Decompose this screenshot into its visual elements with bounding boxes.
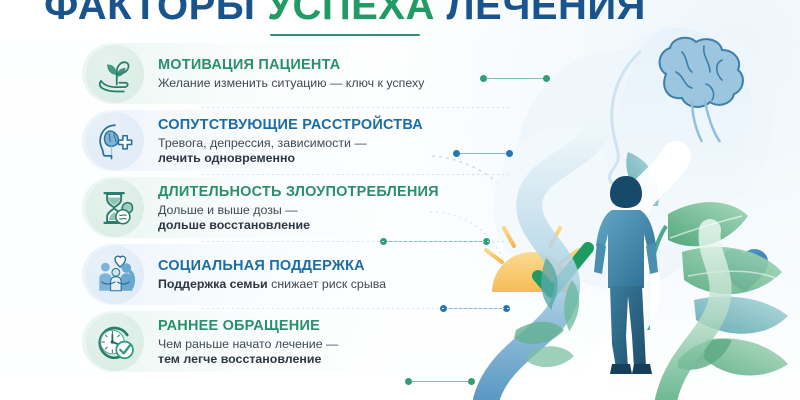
factor-description: Тревога, депрессия, зависимости — <box>158 136 423 151</box>
factor-row-motivation[interactable]: МОТИВАЦИЯ ПАЦИЕНТА Желание изменить ситу… <box>82 40 502 107</box>
factor-text: РАННЕЕ ОБРАЩЕНИЕ Чем раньше начато лечен… <box>158 317 338 367</box>
infographic-root: ФАКТОРЫ УСПЕХА ЛЕЧЕНИЯ <box>0 0 800 400</box>
factor-description: Чем раньше начато лечение — <box>158 337 338 352</box>
factor-heading: СОПУТСТВУЮЩИЕ РАССТРОЙСТВА <box>158 117 423 134</box>
connector-bar <box>412 381 468 383</box>
title-part-2: УСПЕХА <box>267 0 435 28</box>
factor-heading: ДЛИТЕЛЬНОСТЬ ЗЛОУПОТРЕБЛЕНИЯ <box>158 184 439 201</box>
factor-heading: МОТИВАЦИЯ ПАЦИЕНТА <box>158 57 424 74</box>
family-heart-icon <box>86 246 144 304</box>
connector-dot-end <box>468 378 475 385</box>
factor-row-early-treatment[interactable]: РАННЕЕ ОБРАЩЕНИЕ Чем раньше начато лечен… <box>82 308 502 375</box>
person-head <box>610 176 642 208</box>
factor-description-line2: лечить одновременно <box>158 151 423 166</box>
factor-description: Поддержка семьи снижает риск срыва <box>158 277 386 292</box>
desc-plain: Тревога, депрессия, зависимости — <box>158 136 367 150</box>
factor-description-line2: тем легче восстановление <box>158 352 338 367</box>
head-brain-plus-icon <box>86 112 144 170</box>
person-shoe-left <box>610 364 632 374</box>
clock-check-icon <box>86 313 144 371</box>
hand-plant-heart-icon <box>86 45 144 103</box>
factor-text: МОТИВАЦИЯ ПАЦИЕНТА Желание изменить ситу… <box>158 56 424 91</box>
desc-plain: Желание изменить ситуацию — ключ к успех… <box>158 76 424 90</box>
desc-bold: лечить одновременно <box>158 151 295 165</box>
hourglass-pill-icon <box>86 179 144 237</box>
factor-row-social-support[interactable]: СОЦИАЛЬНАЯ ПОДДЕРЖКА Поддержка семьи сни… <box>82 241 502 308</box>
desc-plain: снижает риск срыва <box>268 277 386 291</box>
factor-text: ДЛИТЕЛЬНОСТЬ ЗЛОУПОТРЕБЛЕНИЯ Дольше и вы… <box>158 183 439 233</box>
title-text: ФАКТОРЫ УСПЕХА ЛЕЧЕНИЯ <box>0 0 690 28</box>
connector-dot-end <box>543 75 550 82</box>
desc-plain: Дольше и выше дозы — <box>158 203 298 217</box>
factor-text: СОЦИАЛЬНАЯ ПОДДЕРЖКА Поддержка семьи сни… <box>158 257 386 292</box>
factor-description: Дольше и выше дозы — <box>158 203 439 218</box>
title-underline <box>270 34 420 36</box>
factor-heading: СОЦИАЛЬНАЯ ПОДДЕРЖКА <box>158 258 386 275</box>
factor-description: Желание изменить ситуацию — ключ к успех… <box>158 76 424 91</box>
connector-dot-start <box>405 378 412 385</box>
factor-heading: РАННЕЕ ОБРАЩЕНИЕ <box>158 318 338 335</box>
factors-list: МОТИВАЦИЯ ПАЦИЕНТА Желание изменить ситу… <box>82 40 502 375</box>
recovery-path-illustration <box>470 0 800 400</box>
connector-dot-end <box>506 150 513 157</box>
desc-bold: тем легче восстановление <box>158 352 321 366</box>
title-part-3: ЛЕЧЕНИЯ <box>446 0 645 28</box>
connector-line-5 <box>405 378 475 385</box>
person-shoe-right <box>632 364 652 374</box>
factor-row-comorbidity[interactable]: СОПУТСТВУЮЩИЕ РАССТРОЙСТВА Тревога, депр… <box>82 107 502 174</box>
factor-row-duration[interactable]: ДЛИТЕЛЬНОСТЬ ЗЛОУПОТРЕБЛЕНИЯ Дольше и вы… <box>82 174 502 241</box>
page-title: ФАКТОРЫ УСПЕХА ЛЕЧЕНИЯ <box>0 0 690 36</box>
desc-plain: Чем раньше начато лечение — <box>158 337 338 351</box>
factor-text: СОПУТСТВУЮЩИЕ РАССТРОЙСТВА Тревога, депр… <box>158 116 423 166</box>
desc-bold: Поддержка семьи <box>158 277 268 291</box>
factor-description-line2: дольше восстановление <box>158 218 439 233</box>
title-part-1: ФАКТОРЫ <box>44 0 255 28</box>
desc-bold: дольше восстановление <box>158 218 310 232</box>
